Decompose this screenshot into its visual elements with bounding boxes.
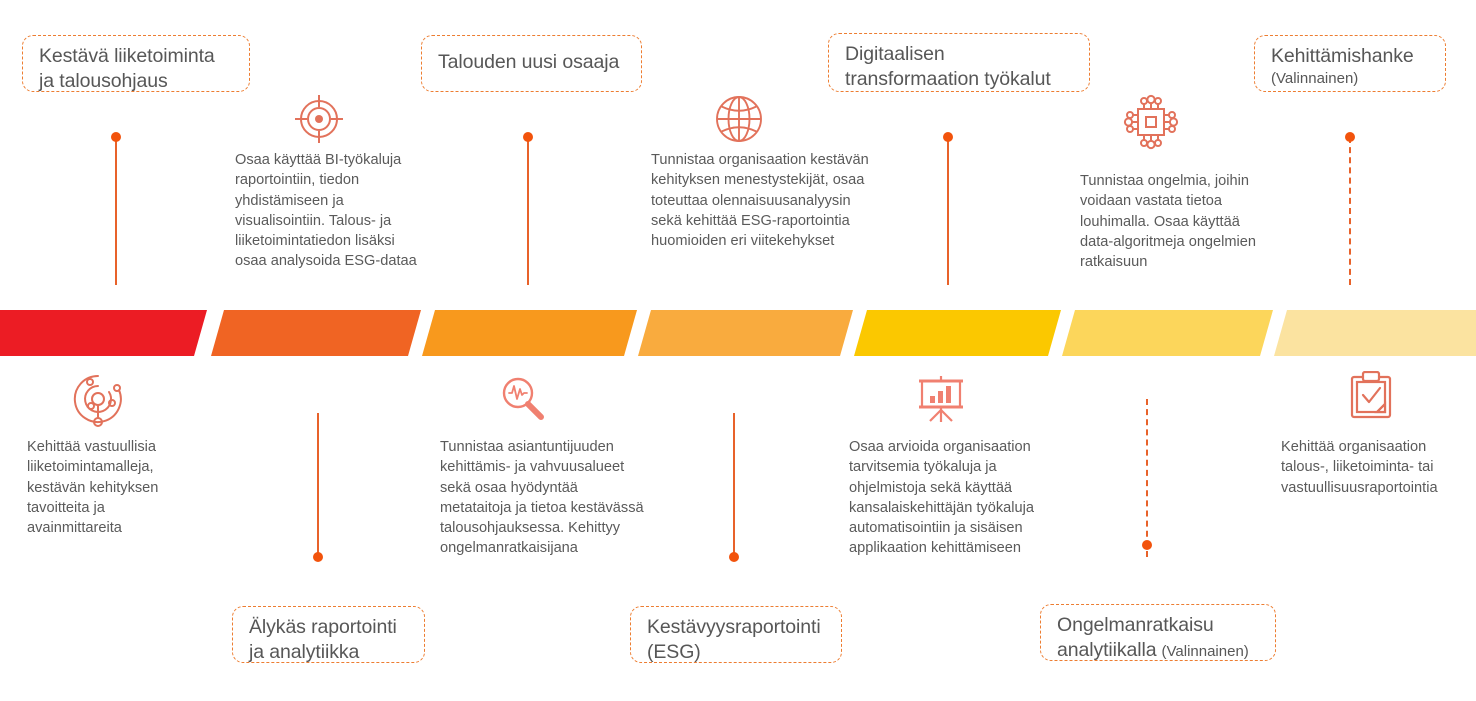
infographic-roadmap: Kestävä liiketoiminta ja talousohjaus Ta…: [0, 0, 1476, 701]
label-line-2: ja analytiikka: [249, 640, 408, 665]
label-line-2: transformaation työkalut: [845, 67, 1073, 92]
label-box-kestavyysraportointi[interactable]: Kestävyysraportointi (ESG): [630, 606, 842, 663]
description-tyokalujen-arviointi: Osaa arvioida organisaation tarvitsemia …: [849, 437, 1049, 559]
label-line-1: Talouden uusi osaaja: [438, 50, 619, 75]
microchip-icon: [1123, 94, 1179, 150]
connector-stem-3: [947, 137, 949, 285]
connector-stem-7: [1146, 399, 1148, 557]
description-raportoinnin-kehittaminen: Kehittää organisaation talous-, liiketoi…: [1281, 437, 1469, 498]
globe-icon: [713, 93, 765, 145]
presentation-chart-icon: [916, 374, 966, 424]
connector-stem-1: [115, 137, 117, 285]
label-sublabel: (Valinnainen): [1271, 69, 1429, 89]
label-box-kehittamishanke[interactable]: Kehittämishanke (Valinnainen): [1254, 35, 1446, 92]
connector-dot-5: [313, 552, 323, 562]
band-segment-2: [211, 310, 421, 356]
label-line-1: Älykäs raportointi: [249, 615, 408, 640]
description-tiedon-louhinta: Tunnistaa ongelmia, joihin voidaan vasta…: [1080, 171, 1260, 272]
connector-dot-7: [1142, 540, 1152, 550]
label-box-kestava-liiketoiminta[interactable]: Kestävä liiketoiminta ja talousohjaus: [22, 35, 250, 92]
label-line-2: analytiikalla: [1057, 639, 1157, 661]
band-segment-1: [0, 310, 207, 356]
atom-orbit-icon: [69, 370, 127, 428]
label-line-1: Kestävä liiketoiminta: [39, 44, 233, 69]
connector-dot-3: [943, 132, 953, 142]
connector-stem-4: [1349, 137, 1351, 285]
label-line-2-wrap: analytiikalla(Valinnainen): [1057, 638, 1259, 663]
label-box-ongelmanratkaisu-analytiikalla[interactable]: Ongelmanratkaisu analytiikalla(Valinnain…: [1040, 604, 1276, 661]
description-asiantuntijuuden-kehittaminen: Tunnistaa asiantuntijuuden kehittämis- j…: [440, 437, 652, 559]
description-vastuulliset-liiketoimintamallit: Kehittää vastuullisia liiketoimintamalle…: [27, 437, 185, 538]
label-box-talouden-uusi-osaaja[interactable]: Talouden uusi osaaja: [421, 35, 642, 92]
magnifier-pulse-icon: [496, 372, 550, 426]
connector-dot-2: [523, 132, 533, 142]
connector-dot-4: [1345, 132, 1355, 142]
description-bi-tyokalut: Osaa käyttää BI-työkaluja raportointiin,…: [235, 150, 427, 272]
connector-dot-6: [729, 552, 739, 562]
label-line-1: Kehittämishanke: [1271, 44, 1429, 69]
connector-dot-1: [111, 132, 121, 142]
band-segment-4: [638, 310, 853, 356]
label-line-2: ja talousohjaus: [39, 69, 233, 94]
description-kestava-kehitys: Tunnistaa organisaation kestävän kehityk…: [651, 150, 873, 251]
band-segments: [0, 310, 1476, 356]
connector-stem-2: [527, 137, 529, 285]
gradient-arrow-band: [0, 310, 1476, 356]
target-icon: [293, 93, 345, 145]
label-line-2: (ESG): [647, 640, 825, 665]
band-segment-6: [1062, 310, 1273, 356]
clipboard-check-icon: [1348, 371, 1394, 421]
label-box-digitaalisen-transformaation-tyokalut[interactable]: Digitaalisen transformaation työkalut: [828, 33, 1090, 92]
label-box-alykas-raportointi[interactable]: Älykäs raportointi ja analytiikka: [232, 606, 425, 663]
band-segment-5: [854, 310, 1061, 356]
label-line-1: Digitaalisen: [845, 42, 1073, 67]
label-line-1: Kestävyysraportointi: [647, 615, 825, 640]
band-segment-3: [422, 310, 637, 356]
connector-stem-5: [317, 413, 319, 557]
band-segment-7: [1274, 310, 1476, 356]
label-line-1: Ongelmanratkaisu: [1057, 613, 1259, 638]
label-sublabel: (Valinnainen): [1162, 643, 1249, 660]
connector-stem-6: [733, 413, 735, 557]
